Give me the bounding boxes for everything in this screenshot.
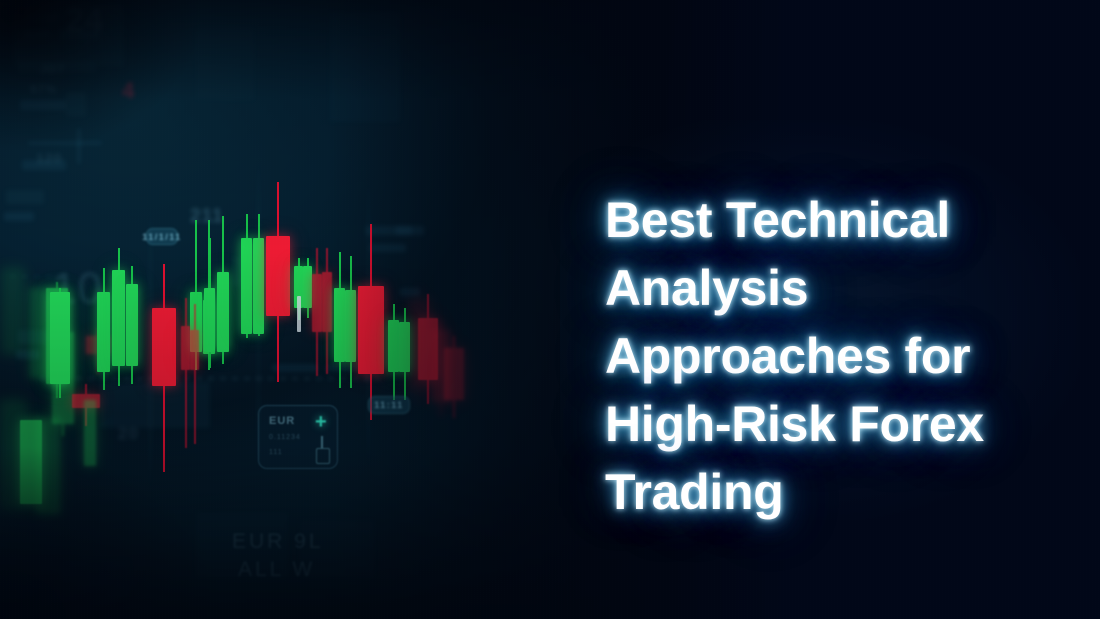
headline-line-3: Approaches for (605, 322, 1045, 390)
headline-line-4: High-Risk Forex (605, 390, 1045, 458)
headline-line-2: Analysis (605, 254, 1045, 322)
hero-banner: 10 211 20 24 120 97% JD7 4 (0, 0, 1100, 619)
page-title: Best Technical Analysis Approaches for H… (605, 186, 1045, 526)
headline-line-5: Trading (605, 458, 1045, 526)
headline-line-1: Best Technical (605, 186, 1045, 254)
